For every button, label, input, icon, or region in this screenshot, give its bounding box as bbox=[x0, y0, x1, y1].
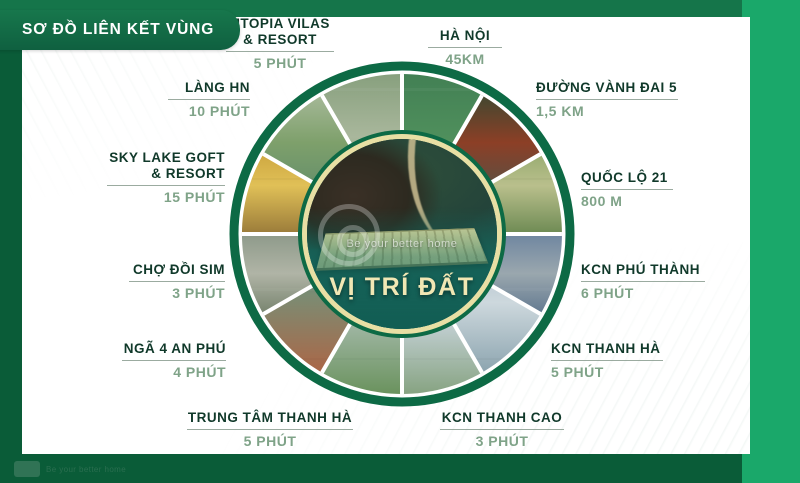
label-value: 5 PHÚT bbox=[190, 55, 370, 71]
label-value: 5 PHÚT bbox=[551, 364, 731, 380]
hub-watermark-logo-icon bbox=[318, 204, 380, 266]
label-value: 1,5 KM bbox=[536, 103, 736, 119]
location-wheel: Be your better home VỊ TRÍ ĐẤT bbox=[226, 58, 578, 410]
label-value: 15 PHÚT bbox=[60, 189, 225, 205]
label-title-line2: & RESORT bbox=[60, 166, 225, 182]
label-title: CHỢ ĐỒI SIM bbox=[75, 262, 225, 278]
outer-frame: SƠ ĐỒ LIÊN KẾT VÙNG UTOPIA VILAS & RESOR… bbox=[0, 0, 800, 483]
label-duong-vanh-dai-5[interactable]: ĐƯỜNG VÀNH ĐAI 5 1,5 KM bbox=[536, 80, 736, 119]
label-divider bbox=[168, 99, 250, 100]
corner-watermark-text: Be your better home bbox=[46, 465, 126, 474]
hub-title: VỊ TRÍ ĐẤT bbox=[307, 273, 497, 302]
label-divider bbox=[581, 281, 705, 282]
label-divider bbox=[122, 360, 226, 361]
label-sky-lake-goft-resort[interactable]: SKY LAKE GOFT & RESORT 15 PHÚT bbox=[60, 150, 225, 205]
label-kcn-thanh-cao[interactable]: KCN THANH CAO 3 PHÚT bbox=[412, 410, 592, 449]
label-divider bbox=[440, 429, 564, 430]
label-title: QUỐC LỘ 21 bbox=[581, 170, 751, 186]
label-title-line1: SKY LAKE GOFT bbox=[60, 150, 225, 166]
label-title: KCN THANH HÀ bbox=[551, 341, 731, 357]
label-value: 4 PHÚT bbox=[68, 364, 226, 380]
label-title: NGÃ 4 AN PHÚ bbox=[68, 341, 226, 357]
label-divider bbox=[536, 99, 678, 100]
corner-watermark-logo-icon bbox=[14, 461, 40, 477]
label-title: LÀNG HN bbox=[90, 80, 250, 96]
label-lang-hn[interactable]: LÀNG HN 10 PHÚT bbox=[90, 80, 250, 119]
hub-aerial-photo: Be your better home VỊ TRÍ ĐẤT bbox=[307, 139, 497, 329]
label-quoc-lo-21[interactable]: QUỐC LỘ 21 800 M bbox=[581, 170, 751, 209]
label-divider bbox=[581, 189, 673, 190]
label-divider bbox=[428, 47, 502, 48]
label-title: HÀ NỘI bbox=[400, 28, 530, 44]
label-kcn-phu-thanh[interactable]: KCN PHÚ THÀNH 6 PHÚT bbox=[581, 262, 761, 301]
hub-watermark-text: Be your better home bbox=[307, 238, 497, 250]
section-title-text: SƠ ĐỒ LIÊN KẾT VÙNG bbox=[22, 21, 214, 39]
label-divider bbox=[551, 360, 663, 361]
section-title-badge: SƠ ĐỒ LIÊN KẾT VÙNG bbox=[0, 10, 240, 50]
label-divider bbox=[129, 281, 225, 282]
label-title: ĐƯỜNG VÀNH ĐAI 5 bbox=[536, 80, 736, 96]
label-divider bbox=[187, 429, 353, 430]
label-value: 3 PHÚT bbox=[412, 433, 592, 449]
center-hub: Be your better home VỊ TRÍ ĐẤT bbox=[307, 139, 497, 329]
label-title: KCN THANH CAO bbox=[412, 410, 592, 426]
label-value: 800 M bbox=[581, 193, 751, 209]
label-title: TRUNG TÂM THANH HÀ bbox=[160, 410, 380, 426]
label-value: 5 PHÚT bbox=[160, 433, 380, 449]
frame-right-accent bbox=[742, 0, 800, 483]
label-value: 45KM bbox=[400, 51, 530, 67]
label-cho-doi-sim[interactable]: CHỢ ĐỒI SIM 3 PHÚT bbox=[75, 262, 225, 301]
label-nga-4-an-phu[interactable]: NGÃ 4 AN PHÚ 4 PHÚT bbox=[68, 341, 226, 380]
label-divider bbox=[226, 51, 334, 52]
label-value: 3 PHÚT bbox=[75, 285, 225, 301]
label-title: KCN PHÚ THÀNH bbox=[581, 262, 761, 278]
label-value: 6 PHÚT bbox=[581, 285, 761, 301]
label-divider bbox=[107, 185, 225, 186]
label-value: 10 PHÚT bbox=[90, 103, 250, 119]
label-ha-noi[interactable]: HÀ NỘI 45KM bbox=[400, 28, 530, 67]
label-kcn-thanh-ha[interactable]: KCN THANH HÀ 5 PHÚT bbox=[551, 341, 731, 380]
label-trung-tam-thanh-ha[interactable]: TRUNG TÂM THANH HÀ 5 PHÚT bbox=[160, 410, 380, 449]
corner-watermark: Be your better home bbox=[14, 461, 126, 477]
